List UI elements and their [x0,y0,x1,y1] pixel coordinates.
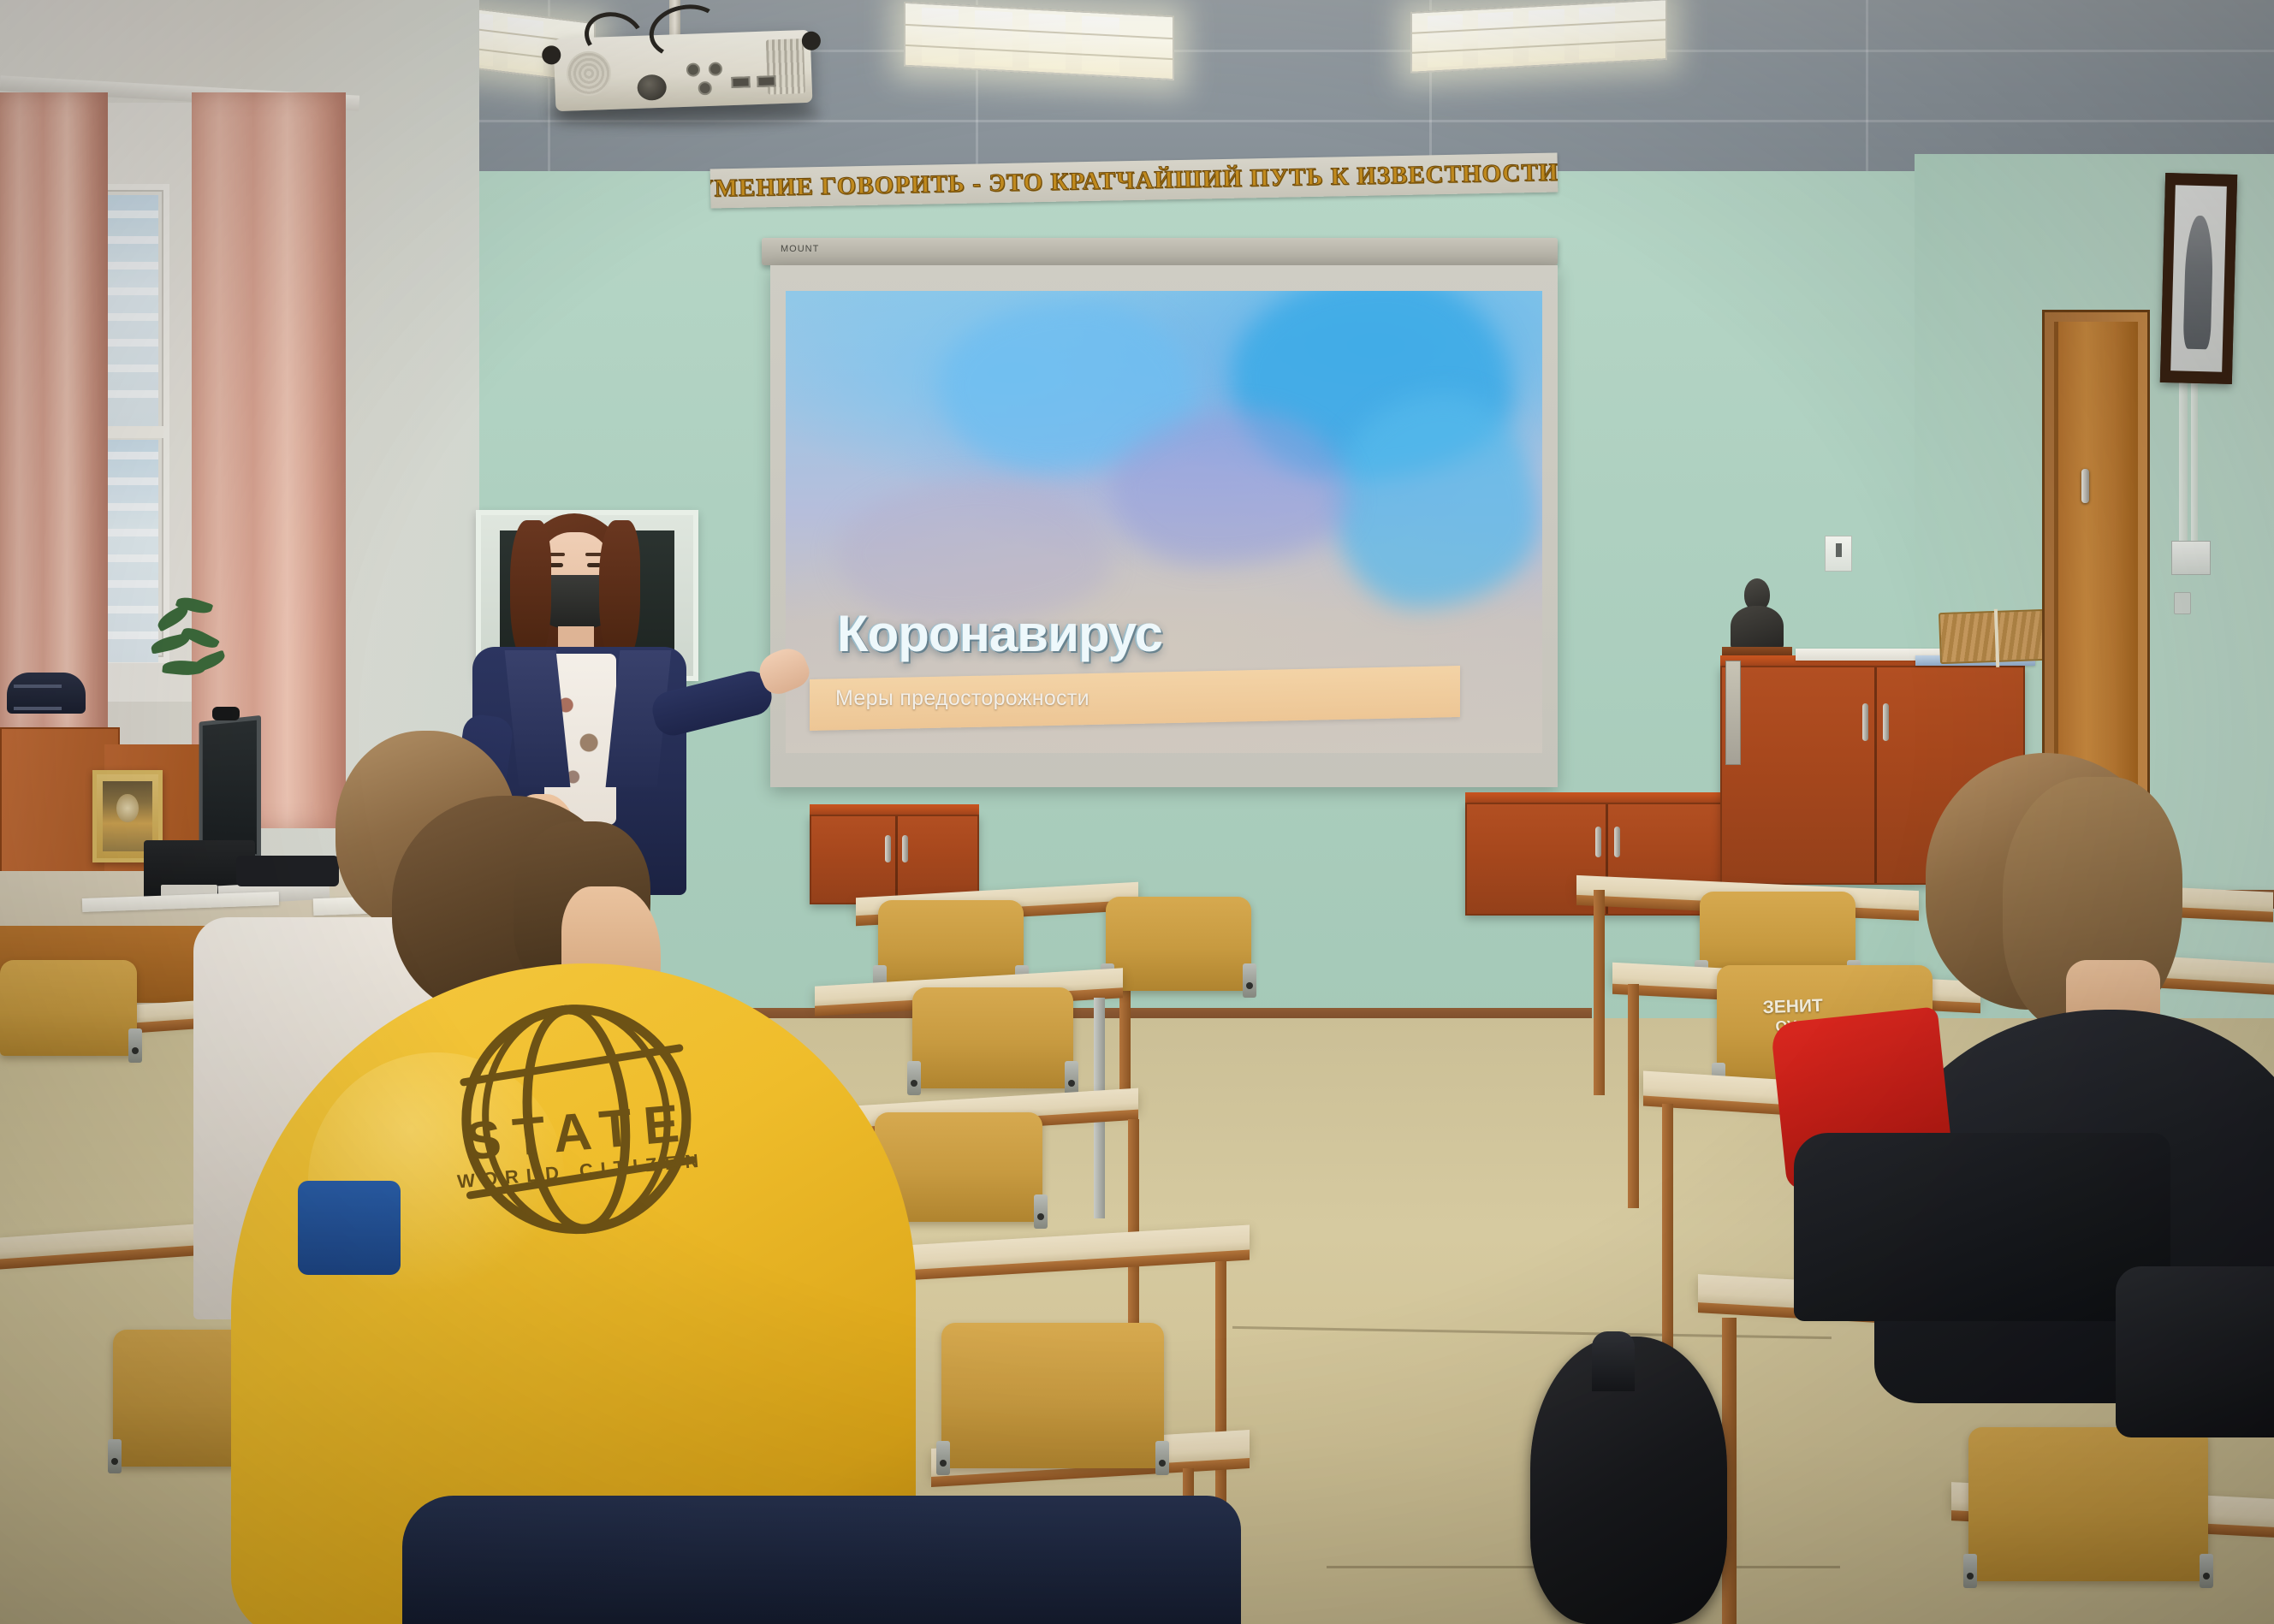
classroom-chair[interactable] [1968,1427,2208,1581]
student-jeans [298,1181,401,1275]
desk-leg [1662,1104,1673,1360]
bronze-bust [1731,578,1784,650]
potted-plant [147,599,241,710]
wall-outlet[interactable] [1825,536,1852,572]
desk-leg [1128,1119,1139,1342]
junction-box [2171,541,2211,575]
door-handle[interactable] [2081,469,2089,503]
projection-screen: Коронавирус Меры предосторожности [770,265,1558,787]
ceiling-projector [554,30,813,111]
bust-pedestal [1722,647,1792,655]
slide-subtitle: Меры предосторожности [835,686,1090,711]
slide-title: Коронавирус [837,604,1162,663]
backpack-strap [1592,1331,1635,1391]
portrait-canvas [2170,185,2227,371]
tshirt-logo: STATE WORLD CITIZEN [434,981,721,1269]
bust-shoulders [1731,606,1784,650]
dark-clothing-right [2116,1266,2274,1437]
screen-case-label: MOUNT [781,244,819,254]
black-coat-on-desk [1794,1133,2170,1321]
presenter-hair-strand [599,520,640,666]
framed-portrait [2160,173,2237,384]
dark-clothing-foreground [402,1496,1241,1624]
chair-graffiti-line1: ЗЕНИТ [1762,996,1823,1017]
presenter-hair-strand [510,520,551,666]
wicker-basket [1939,609,2047,664]
computer-monitor [199,715,261,859]
desk-leg [1594,890,1605,1095]
classroom-chair[interactable] [1106,897,1251,991]
classroom-chair[interactable] [0,960,137,1056]
cabinet-top [1465,792,1743,803]
screen-roller-case: MOUNT [762,238,1558,265]
light-switch[interactable] [2174,592,2191,614]
presentation-slide: Коронавирус Меры предосторожности [786,291,1542,753]
webcam-icon [212,707,240,720]
classroom-photo: УМЕНИЕ ГОВОРИТЬ - ЭТО КРАТЧАЙШИЙ ПУТЬ К … [0,0,2274,1624]
projector-lens [637,74,667,101]
desk-leg [1215,1261,1226,1518]
desk-leg [1628,984,1639,1208]
curtain-left[interactable] [0,92,108,743]
portrait-figure [2183,215,2214,349]
office-chair-back[interactable] [7,673,86,714]
